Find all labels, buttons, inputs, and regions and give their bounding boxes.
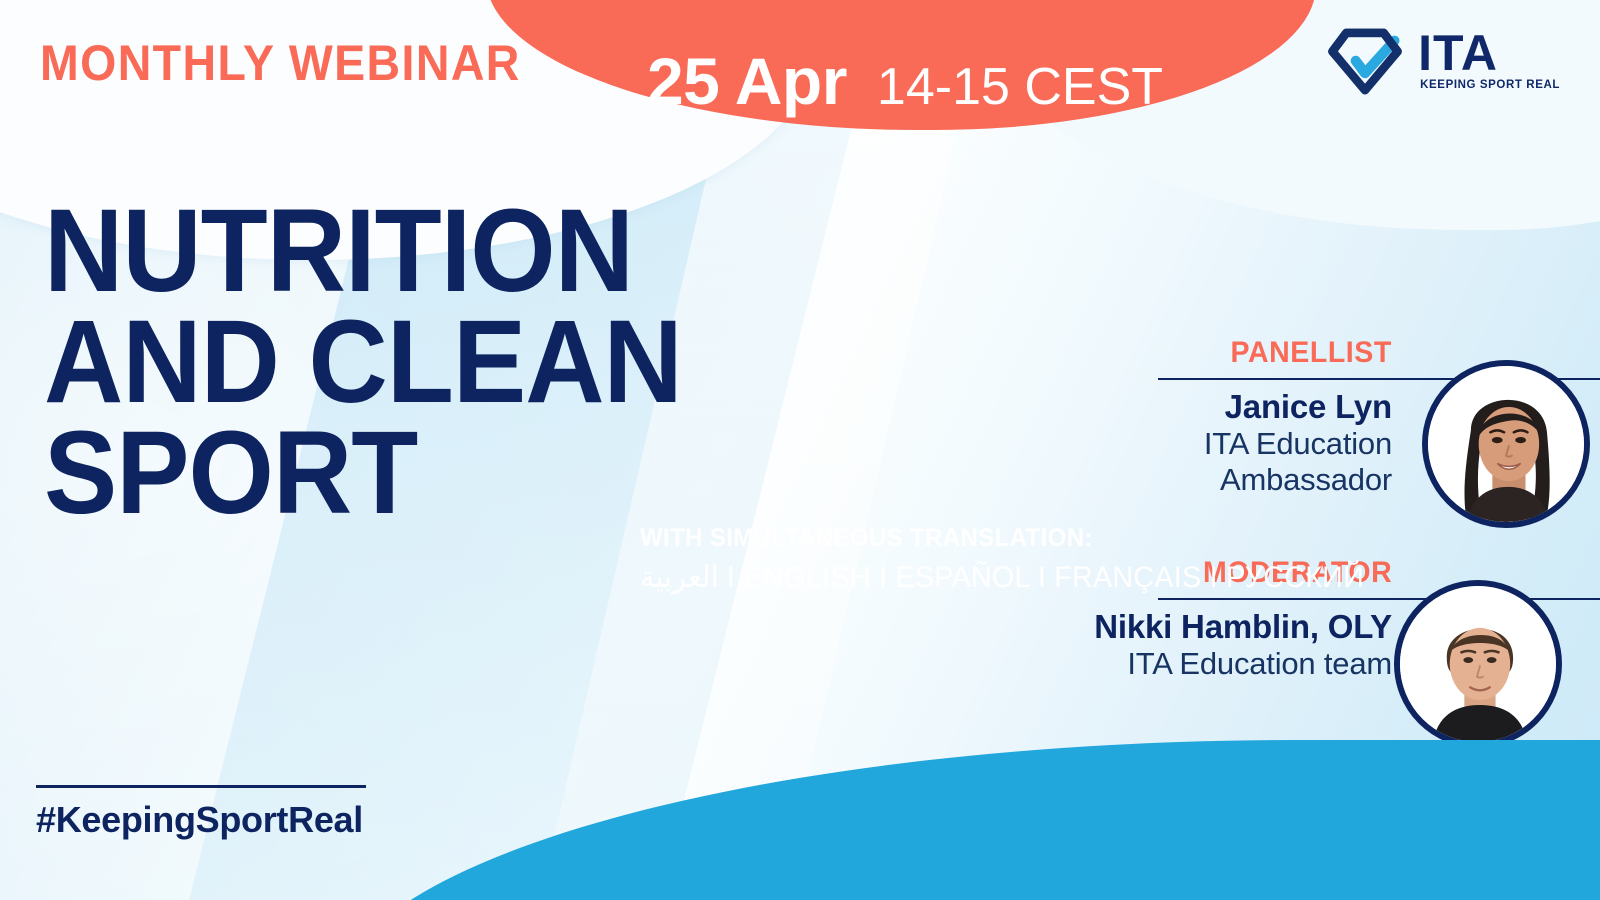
hashtag-block: #KeepingSportReal <box>36 785 366 838</box>
headline-line-1: NUTRITION <box>44 196 682 307</box>
speaker-role-panellist: PANELLIST <box>1231 338 1392 368</box>
speaker-text-panellist: Janice Lyn ITA Education Ambassador <box>1204 388 1392 497</box>
translation-bar <box>330 740 1600 900</box>
speaker-name-panellist: Janice Lyn <box>1204 388 1392 426</box>
hashtag-divider <box>36 785 366 788</box>
page-title: NUTRITION AND CLEAN SPORT <box>44 196 682 529</box>
date-time: 14-15 CEST <box>877 61 1163 113</box>
headline-line-2: AND CLEAN <box>44 307 682 418</box>
speaker-affiliation-moderator-1: ITA Education team <box>1094 646 1392 681</box>
moderator-portrait-illustration <box>1400 586 1556 742</box>
headline-line-3: SPORT <box>44 418 682 529</box>
speaker-block-panellist: PANELLIST Janice Lyn ITA Education Ambas… <box>1040 336 1600 536</box>
ita-wordmark: ITA KEEPING SPORT REAL <box>1418 30 1560 91</box>
panellist-photo <box>1422 360 1590 528</box>
webinar-poster: 25 Apr 14-15 CEST MONTHLY WEBINAR ITA KE… <box>0 0 1600 900</box>
date-day: 25 Apr <box>647 48 847 114</box>
ita-letters: ITA <box>1418 30 1498 76</box>
kicker-label: MONTHLY WEBINAR <box>40 38 521 88</box>
ita-logo: ITA KEEPING SPORT REAL <box>1326 22 1560 98</box>
speaker-name-moderator: Nikki Hamblin, OLY <box>1094 608 1392 646</box>
hashtag-text: #KeepingSportReal <box>36 802 366 838</box>
translation-title: WITH SIMULTANEOUS TRANSLATION: <box>640 524 1408 553</box>
speaker-text-moderator: Nikki Hamblin, OLY ITA Education team <box>1094 608 1392 682</box>
panellist-portrait-illustration <box>1428 366 1584 522</box>
speaker-affiliation-panellist-2: Ambassador <box>1204 462 1392 497</box>
speaker-affiliation-panellist-1: ITA Education <box>1204 426 1392 461</box>
date-banner-content: 25 Apr 14-15 CEST <box>647 48 1163 114</box>
speaker-divider-moderator <box>1158 598 1600 600</box>
translation-content: WITH SIMULTANEOUS TRANSLATION: العربية I… <box>640 524 1440 596</box>
ita-tagline: KEEPING SPORT REAL <box>1420 79 1560 91</box>
ita-diamond-check-icon <box>1326 22 1404 98</box>
translation-languages: العربية I ENGLISH I ESPAÑOL I FRANÇAIS I… <box>640 559 1408 597</box>
moderator-photo <box>1394 580 1562 748</box>
